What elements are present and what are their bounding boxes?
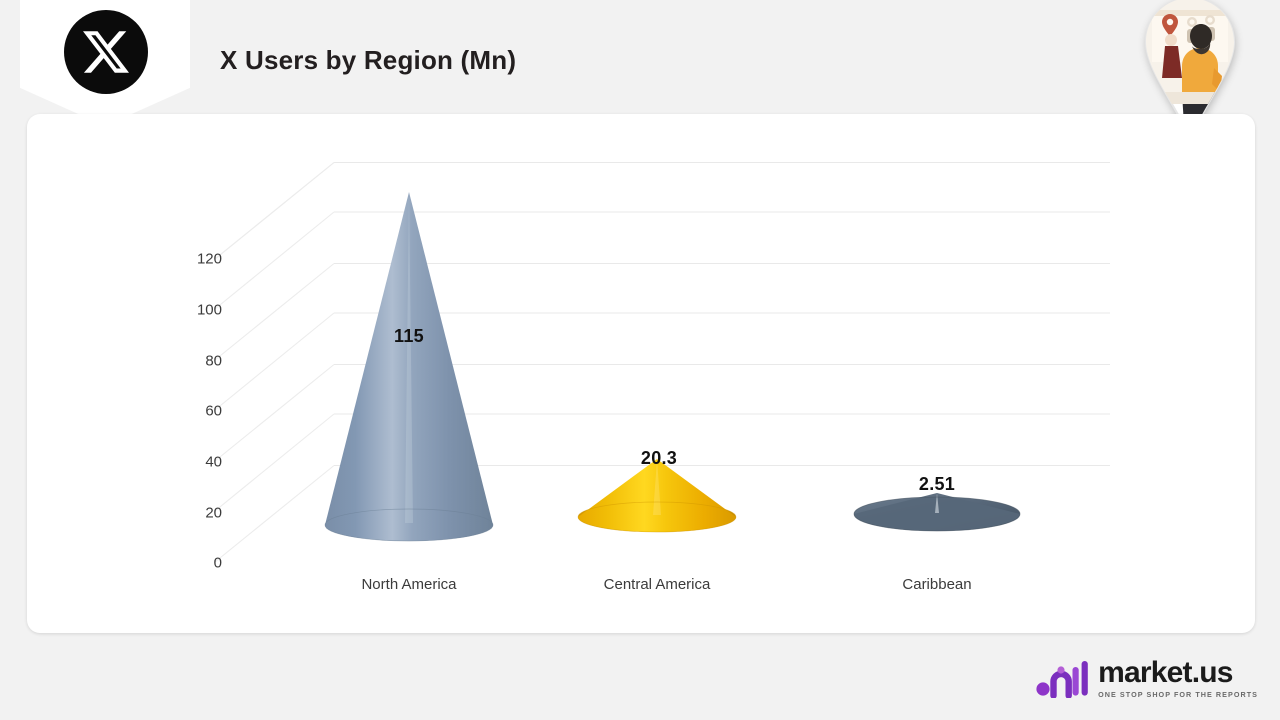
y-tick-60: 60 <box>162 403 222 420</box>
market-us-bars-icon <box>1035 658 1089 698</box>
data-label-north-america: 115 <box>394 326 424 347</box>
y-tick-120: 120 <box>162 251 222 268</box>
page-title: X Users by Region (Mn) <box>220 45 516 76</box>
brand-tagline: ONE STOP SHOP FOR THE REPORTS <box>1098 691 1258 698</box>
gridlines-depth <box>215 163 334 563</box>
x-category-central-america: Central America <box>604 576 711 593</box>
brand-name: market.us <box>1098 658 1258 688</box>
data-label-central-america: 20.3 <box>641 448 677 469</box>
cone-central-america <box>578 459 736 532</box>
market-us-logo[interactable]: market.us ONE STOP SHOP FOR THE REPORTS <box>1035 650 1258 706</box>
y-tick-80: 80 <box>162 353 222 370</box>
y-tick-40: 40 <box>162 454 222 471</box>
cone-north-america <box>325 192 493 541</box>
x-category-caribbean: Caribbean <box>902 576 971 593</box>
cone-caribbean <box>854 493 1020 531</box>
y-tick-20: 20 <box>162 505 222 522</box>
y-axis-ticks: 120 100 80 60 40 20 0 <box>162 114 222 633</box>
chart-card: 120 100 80 60 40 20 0 115 20.3 2.51 Nort… <box>27 114 1255 633</box>
x-logo-icon <box>64 10 148 94</box>
y-tick-0: 0 <box>162 555 222 572</box>
header-bar: X Users by Region (Mn) <box>0 0 1280 114</box>
data-label-caribbean: 2.51 <box>919 474 955 495</box>
x-category-north-america: North America <box>361 576 456 593</box>
y-tick-100: 100 <box>162 302 222 319</box>
